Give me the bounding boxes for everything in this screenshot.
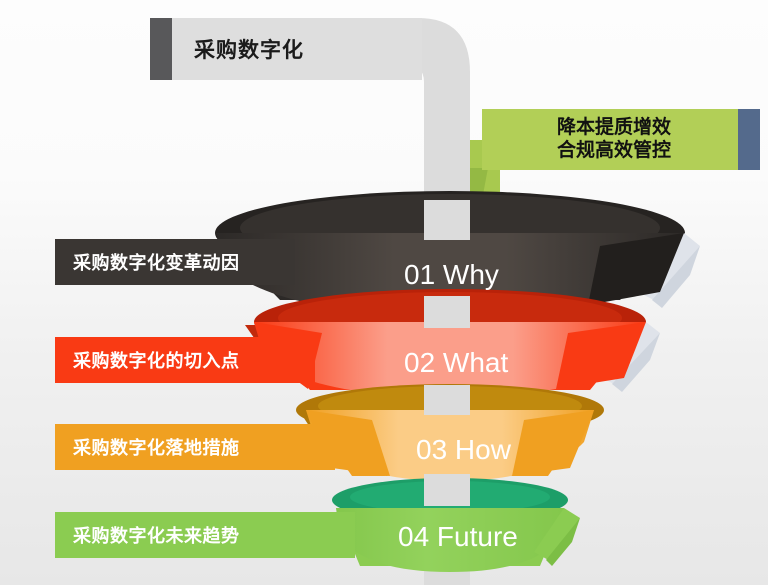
funnel-caption-future: 04 Future <box>398 521 518 553</box>
stage-label-how-text: 采购数字化落地措施 <box>73 434 240 460</box>
callout-line-1: 降本提质增效 <box>557 117 671 139</box>
callout-end-block <box>738 109 760 170</box>
stage-label-future-text: 采购数字化未来趋势 <box>73 522 240 548</box>
stage-label-what[interactable]: 采购数字化的切入点 <box>55 337 315 383</box>
stage-label-what-text: 采购数字化的切入点 <box>73 347 240 373</box>
stage-label-why[interactable]: 采购数字化变革动因 <box>55 239 295 285</box>
funnel-caption-what: 02 What <box>404 347 508 379</box>
title-accent-bar <box>150 18 172 80</box>
stage-label-why-text: 采购数字化变革动因 <box>73 249 240 275</box>
page-title: 采购数字化 <box>194 34 304 64</box>
slide-canvas: 采购数字化 降本提质增效 合规高效管控 采购数字化变革动因 采购数字化的切入点 … <box>0 0 768 585</box>
funnel-graphic <box>0 0 768 585</box>
callout-banner: 降本提质增效 合规高效管控 <box>482 109 746 170</box>
callout-line-2: 合规高效管控 <box>557 140 671 162</box>
slide-title-panel: 采购数字化 <box>150 18 422 80</box>
stage-label-how[interactable]: 采购数字化落地措施 <box>55 424 335 470</box>
stage-label-future[interactable]: 采购数字化未来趋势 <box>55 512 355 558</box>
funnel-caption-how: 03 How <box>416 434 511 466</box>
funnel-caption-why: 01 Why <box>404 259 499 291</box>
